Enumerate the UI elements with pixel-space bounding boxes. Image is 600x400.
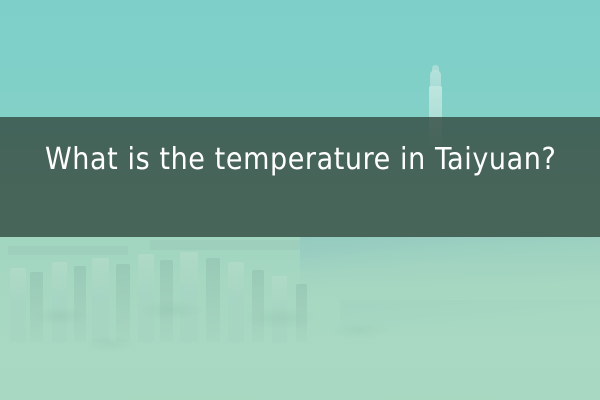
- vegetation-texture: [0, 296, 420, 370]
- image-canvas: What is the temperature in Taiyuan?: [0, 0, 600, 400]
- caption-text: What is the temperature in Taiyuan?: [0, 117, 586, 179]
- ruins-lintel: [8, 246, 128, 255]
- ruins-lintel: [150, 240, 300, 250]
- caption-band: What is the temperature in Taiyuan?: [0, 117, 600, 237]
